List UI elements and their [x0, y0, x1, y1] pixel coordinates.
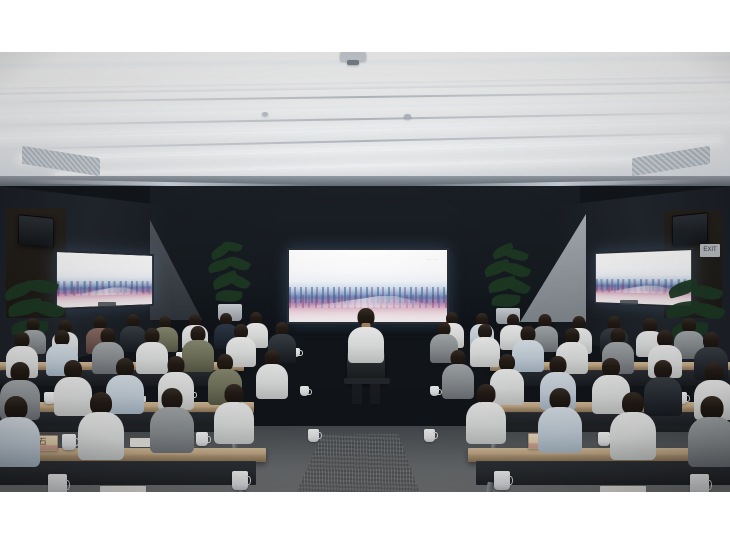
ceiling-device-vent-right-label: air vent: [511, 36, 563, 53]
attendee: [256, 350, 288, 398]
scene-title: Conference / training room meeting photo…: [0, 0, 336, 17]
exit-sign: EXIT: [700, 244, 720, 257]
tea-mug: [232, 471, 248, 490]
ceiling-light-strip: [0, 117, 730, 139]
attendee: [538, 388, 582, 450]
attendee: [0, 396, 40, 464]
ceiling-light-strip: [55, 156, 685, 175]
ceiling-device-smoke-label: smoke detector: [340, 36, 449, 53]
chair-base: [344, 378, 390, 384]
attendee: [466, 384, 506, 442]
smoke-detector-icon: [262, 112, 268, 116]
left-screen-mount: [98, 302, 116, 307]
ceiling-device-vent-left-label: air vent: [454, 36, 506, 53]
attendee: [610, 392, 656, 458]
right-screen-mount: [620, 300, 638, 305]
tea-mug: [598, 432, 610, 446]
attendee: [78, 392, 124, 458]
venue-type: corporate training auditorium: [341, 0, 545, 17]
tea-mug: [424, 429, 435, 442]
ceiling-projector-lens-icon: [347, 60, 359, 65]
screen-watermark: — —: [427, 256, 437, 261]
tea-mug: [48, 474, 67, 492]
ceiling-description: bright white suspended ceiling with long…: [0, 18, 689, 53]
room-interior: EXIT — —: [0, 186, 730, 492]
tea-mug: [494, 471, 510, 490]
wall-speaker-left-icon: [18, 214, 54, 248]
conference-room-photo: EXIT — —: [0, 52, 730, 492]
attendee-front-center: [348, 308, 384, 360]
tea-mug: [196, 432, 208, 446]
smoke-detector-icon: [404, 114, 411, 119]
attendee: [688, 396, 730, 464]
ceiling: [0, 52, 730, 192]
attendee: [150, 388, 194, 450]
tea-mug: [62, 434, 76, 450]
scene-orientation: wide landscape photo, white letterbox ba…: [0, 0, 708, 35]
tea-mug: [690, 474, 709, 492]
wall-speaker-right-icon: [672, 212, 708, 246]
ceiling-device-projector-label: projector: [273, 36, 335, 53]
tea-mug: [308, 429, 319, 442]
hvac-grille-right-icon: [632, 146, 710, 176]
tea-mug: [430, 386, 439, 396]
leg: [352, 382, 362, 404]
document: [600, 486, 646, 492]
attendee: [214, 384, 254, 442]
document: [100, 486, 146, 492]
potted-plant-left-icon: [208, 242, 254, 322]
tea-mug: [300, 386, 309, 396]
leg: [370, 382, 380, 404]
